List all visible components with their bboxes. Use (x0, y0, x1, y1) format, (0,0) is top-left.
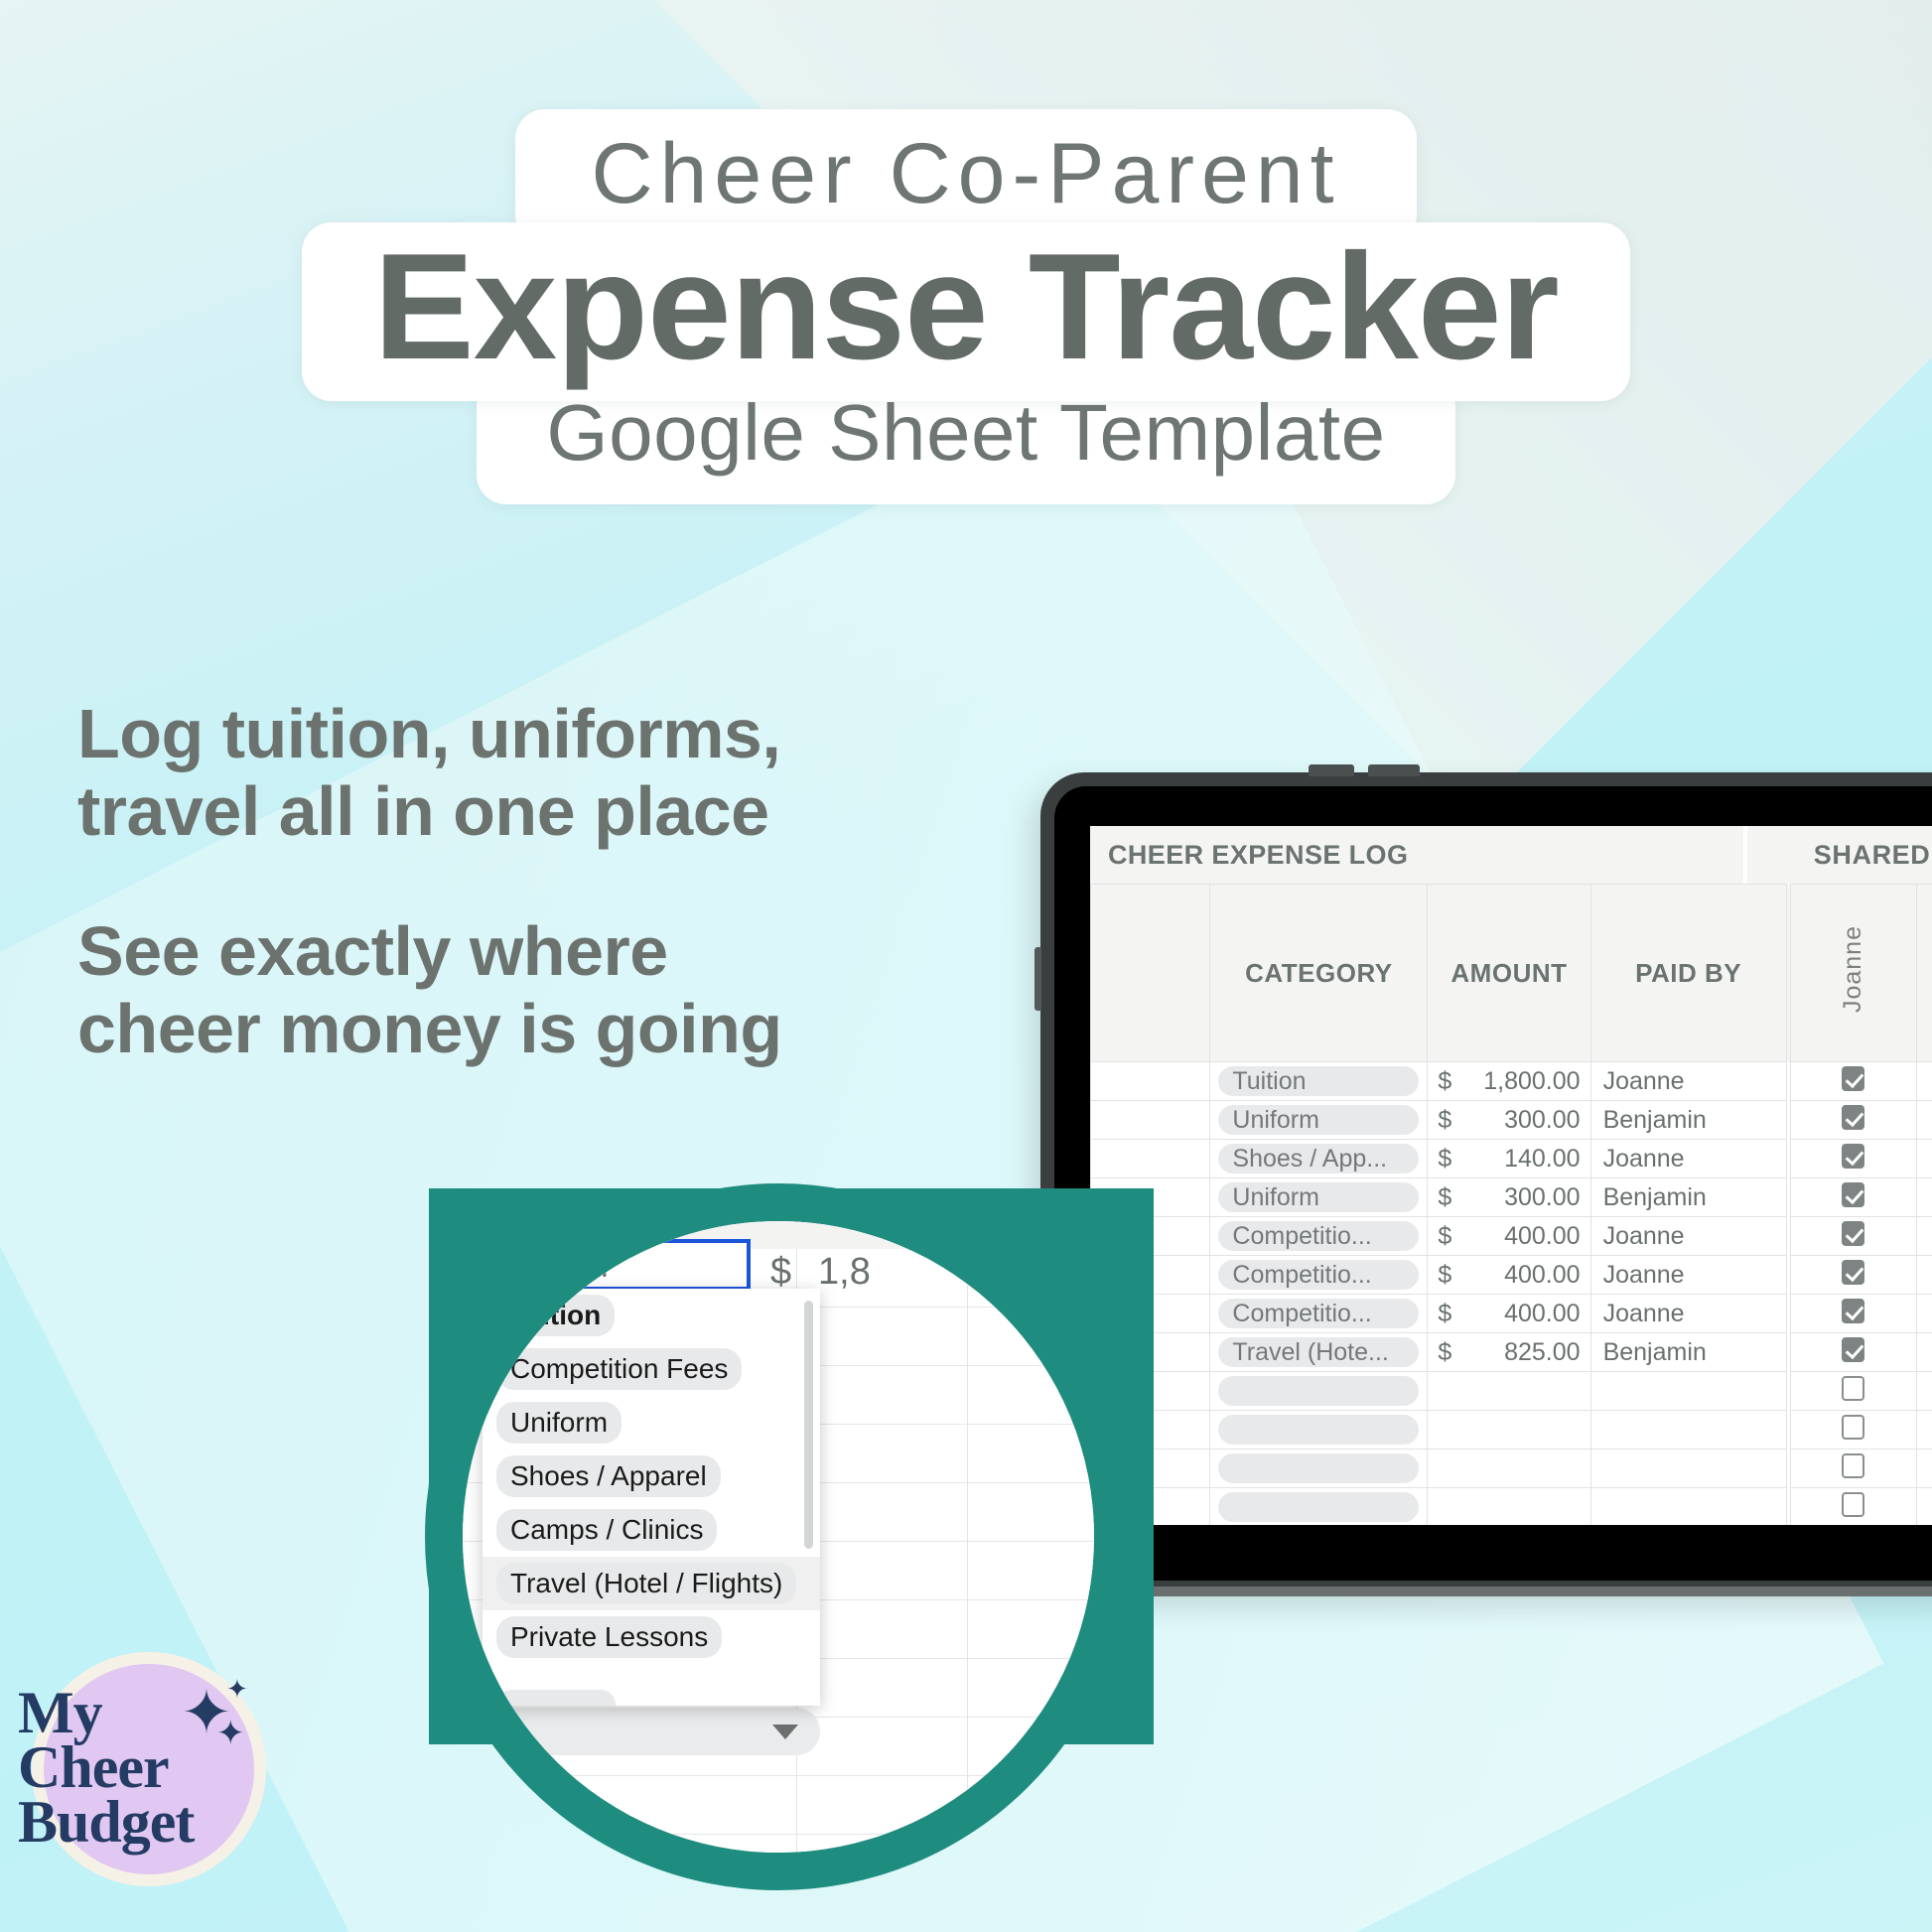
cell-category[interactable]: Uniform (1210, 1178, 1428, 1217)
marketing-copy: Log tuition, uniforms, travel all in one… (77, 695, 1070, 1068)
tablet-bezel: CHEER EXPENSE LOG SHARED BY CATEGOR (1054, 786, 1932, 1581)
marketing-line-2a: See exactly where (77, 912, 1070, 990)
paid-by-value: Joanne (1591, 1261, 1786, 1290)
category-pill[interactable]: Competitio... (1218, 1299, 1419, 1328)
cell-amount[interactable]: $400.00 (1428, 1256, 1590, 1295)
checkbox-checked-icon[interactable] (1842, 1182, 1864, 1207)
cell-amount[interactable]: $300.00 (1428, 1178, 1590, 1217)
cell-category[interactable] (1210, 1411, 1428, 1449)
dropdown-option-label: Private Lessons (496, 1616, 722, 1658)
marketing-line-2b: cheer money is going (77, 990, 1070, 1067)
listing-image-canvas: Cheer Co-Parent Expense Tracker Google S… (0, 0, 1932, 1932)
cell-shared-joanne[interactable] (1790, 1449, 1916, 1488)
tablet-device-mockup: CHEER EXPENSE LOG SHARED BY CATEGOR (1040, 772, 1932, 1596)
paid-by-value: Benjamin (1591, 1106, 1786, 1135)
cell-category[interactable] (1210, 1372, 1428, 1411)
dropdown-option[interactable]: Competition Fees (483, 1342, 820, 1396)
cell-category[interactable]: Uniform (1210, 1101, 1428, 1140)
checkbox-unchecked-icon[interactable] (1842, 1376, 1864, 1401)
dropdown-scrollbar[interactable] (804, 1301, 813, 1549)
zoomed-currency-symbol: $ (770, 1251, 791, 1294)
cell-shared-benjamin[interactable] (1916, 1140, 1932, 1178)
paid-by-value: Joanne (1591, 1145, 1786, 1173)
cell-paid-by[interactable] (1590, 1488, 1786, 1526)
cell-shared-benjamin[interactable] (1916, 1217, 1932, 1256)
dropdown-option-label: Travel (Hotel / Flights) (496, 1563, 796, 1604)
dropdown-option-label: Shoes / Apparel (496, 1455, 721, 1497)
category-dropdown-menu[interactable]: TuitionCompetition FeesUniformShoes / Ap… (483, 1289, 820, 1706)
amount-value: 1,800.00 (1451, 1067, 1580, 1096)
table-row[interactable] (1091, 1488, 1932, 1526)
currency-symbol: $ (1438, 1300, 1451, 1328)
currency-symbol: $ (1438, 1183, 1451, 1212)
page-title: Expense Tracker (373, 228, 1558, 385)
magnifier-viewport: 0.0.000.000.000.005.00 $ 1,8 Tuition Tui… (463, 1221, 1094, 1853)
dropdown-option[interactable]: Travel (Hotel / Flights) (483, 1557, 820, 1610)
zoomed-amount-text: 0.00 (989, 1475, 1094, 1517)
category-cell-input[interactable]: Tuition (484, 1239, 751, 1291)
cell-amount[interactable]: $1,800.00 (1428, 1062, 1590, 1101)
category-pill[interactable]: Competitio... (1218, 1221, 1419, 1251)
logo-line-2: Cheer (18, 1740, 282, 1795)
shared-by-group-label: SHARED BY (1747, 826, 1932, 884)
logo-line-1: My (18, 1686, 282, 1740)
cell-category[interactable]: Tuition (1210, 1062, 1428, 1101)
cell-shared-benjamin[interactable] (1916, 1178, 1932, 1217)
table-row[interactable]: Uniform$300.00Benjamin (1091, 1178, 1932, 1217)
chevron-down-icon (772, 1725, 798, 1739)
marketing-line-1a: Log tuition, uniforms, (77, 695, 1070, 772)
cell-paid-by[interactable]: Joanne (1590, 1140, 1786, 1178)
cell-category[interactable] (1210, 1449, 1428, 1488)
cell-amount[interactable]: $140.00 (1428, 1140, 1590, 1178)
dropdown-option-label: Competition Fees (496, 1348, 742, 1390)
amount-value: 400.00 (1451, 1261, 1580, 1290)
column-header-shared-joanne: Joanne (1790, 885, 1916, 1062)
zoomed-grid-row (463, 1776, 1094, 1835)
expense-table: CATEGORY AMOUNT PAID BY Joanne Benjamin (1090, 884, 1932, 1525)
category-pill[interactable]: Shoes / App... (1218, 1144, 1419, 1173)
title-block: Cheer Co-Parent Expense Tracker Google S… (0, 109, 1932, 504)
zoomed-amount-value: 1,8 (818, 1251, 871, 1294)
tablet-power-button[interactable] (1035, 947, 1041, 1011)
cell-amount[interactable]: $825.00 (1428, 1333, 1590, 1372)
tablet-bottom-edge (1048, 1587, 1932, 1596)
cell-shared-joanne[interactable] (1790, 1178, 1916, 1217)
zoomed-grid-row (463, 1835, 1094, 1853)
category-pill[interactable]: Travel (Hote... (1218, 1337, 1419, 1367)
logo-line-3: Budget (18, 1795, 282, 1850)
cell-shared-joanne[interactable] (1790, 1140, 1916, 1178)
checkbox-checked-icon[interactable] (1842, 1105, 1864, 1130)
amount-value: 300.00 (1451, 1106, 1580, 1135)
zoomed-amount-text: 0.00 (989, 1533, 1094, 1575)
table-row[interactable]: Travel (Hote...$825.00Benjamin (1091, 1333, 1932, 1372)
cell-shared-joanne[interactable] (1790, 1372, 1916, 1411)
checkbox-unchecked-icon[interactable] (1842, 1492, 1864, 1517)
category-pill[interactable]: Uniform (1218, 1105, 1419, 1135)
logo-wordmark: My Cheer Budget (18, 1686, 282, 1851)
dropdown-option-label: Camps / Clinics (496, 1509, 717, 1551)
cell-date[interactable] (1091, 1062, 1210, 1101)
checkbox-unchecked-icon[interactable] (1842, 1415, 1864, 1440)
table-row[interactable] (1091, 1411, 1932, 1449)
dropdown-next-option[interactable] (496, 1690, 616, 1706)
category-pill[interactable] (1218, 1415, 1419, 1445)
checkbox-checked-icon[interactable] (1842, 1260, 1864, 1285)
cell-amount[interactable] (1428, 1372, 1590, 1411)
paid-by-value: Joanne (1591, 1222, 1786, 1251)
paid-by-value: Benjamin (1591, 1183, 1786, 1212)
cell-paid-by[interactable]: Joanne (1590, 1256, 1786, 1295)
amount-value: 400.00 (1451, 1222, 1580, 1251)
table-body: Tuition$1,800.00JoanneUniform$300.00Benj… (1091, 1062, 1932, 1526)
column-header-date (1091, 885, 1210, 1062)
table-row[interactable]: Competitio...$400.00Joanne (1091, 1256, 1932, 1295)
cell-shared-benjamin[interactable] (1916, 1256, 1932, 1295)
cell-date[interactable] (1091, 1140, 1210, 1178)
checkbox-checked-icon[interactable] (1842, 1337, 1864, 1362)
cell-date[interactable] (1091, 1101, 1210, 1140)
title-card-main: Expense Tracker (302, 222, 1629, 401)
category-pill[interactable]: Tuition (1218, 1066, 1419, 1096)
tablet-volume-up-button[interactable] (1309, 764, 1354, 776)
cell-amount[interactable] (1428, 1488, 1590, 1526)
currency-symbol: $ (1438, 1338, 1451, 1367)
currency-symbol: $ (1438, 1067, 1451, 1096)
currency-symbol: $ (1438, 1222, 1451, 1251)
dropdown-option[interactable]: Uniform (483, 1396, 820, 1449)
tablet-volume-down-button[interactable] (1368, 764, 1420, 776)
table-row[interactable] (1091, 1449, 1932, 1488)
cell-paid-by[interactable]: Joanne (1590, 1217, 1786, 1256)
cell-paid-by[interactable]: Joanne (1590, 1062, 1786, 1101)
magnifier-callout: 0.0.000.000.000.005.00 $ 1,8 Tuition Tui… (425, 1183, 1132, 1890)
cell-paid-by[interactable] (1590, 1449, 1786, 1488)
checkbox-checked-icon[interactable] (1842, 1299, 1864, 1323)
cell-paid-by[interactable] (1590, 1372, 1786, 1411)
cell-paid-by[interactable]: Joanne (1590, 1295, 1786, 1333)
cell-shared-joanne[interactable] (1790, 1333, 1916, 1372)
amount-value: 140.00 (1451, 1145, 1580, 1173)
checkbox-unchecked-icon[interactable] (1842, 1453, 1864, 1478)
cell-shared-joanne[interactable] (1790, 1101, 1916, 1140)
category-pill[interactable] (1218, 1376, 1419, 1406)
spreadsheet: CHEER EXPENSE LOG SHARED BY CATEGOR (1090, 826, 1932, 1525)
category-pill[interactable] (1218, 1453, 1419, 1483)
cell-paid-by[interactable]: Benjamin (1590, 1101, 1786, 1140)
category-select-pill[interactable] (483, 1708, 820, 1755)
category-pill[interactable]: Competitio... (1218, 1260, 1419, 1290)
cell-category[interactable]: Travel (Hote... (1210, 1333, 1428, 1372)
currency-symbol: $ (1438, 1261, 1451, 1290)
brand-logo: ✦ ✦ ✦ My Cheer Budget (32, 1652, 266, 1886)
cell-shared-benjamin[interactable] (1916, 1295, 1932, 1333)
zoomed-gridline-4 (967, 1686, 968, 1805)
cell-shared-joanne[interactable] (1790, 1411, 1916, 1449)
title-subtitle: Google Sheet Template (546, 391, 1385, 475)
dropdown-option[interactable]: Private Lessons (483, 1610, 820, 1664)
cell-shared-joanne[interactable] (1790, 1217, 1916, 1256)
zoomed-amount-text: 0.00 (989, 1418, 1094, 1459)
table-row[interactable]: Competitio...$400.00Joanne (1091, 1295, 1932, 1333)
cell-shared-benjamin[interactable] (1916, 1488, 1932, 1526)
paid-by-value: Joanne (1591, 1300, 1786, 1328)
category-pill[interactable] (1218, 1492, 1419, 1522)
spreadsheet-header-bar: CHEER EXPENSE LOG SHARED BY (1090, 826, 1932, 884)
amount-value: 400.00 (1451, 1300, 1580, 1328)
cell-shared-benjamin[interactable] (1916, 1372, 1932, 1411)
checkbox-checked-icon[interactable] (1842, 1221, 1864, 1246)
table-header-row: CATEGORY AMOUNT PAID BY Joanne Benjamin (1091, 885, 1932, 1062)
cell-shared-benjamin[interactable] (1916, 1101, 1932, 1140)
table-row[interactable]: Shoes / App...$140.00Joanne (1091, 1140, 1932, 1178)
cell-category[interactable]: Shoes / App... (1210, 1140, 1428, 1178)
cell-amount[interactable]: $400.00 (1428, 1295, 1590, 1333)
cell-amount[interactable]: $300.00 (1428, 1101, 1590, 1140)
cell-amount[interactable] (1428, 1449, 1590, 1488)
category-pill[interactable]: Uniform (1218, 1182, 1419, 1212)
cell-shared-benjamin[interactable] (1916, 1411, 1932, 1449)
table-row[interactable]: Uniform$300.00Benjamin (1091, 1101, 1932, 1140)
cell-shared-benjamin[interactable] (1916, 1449, 1932, 1488)
checkbox-checked-icon[interactable] (1842, 1144, 1864, 1169)
cell-category[interactable] (1210, 1488, 1428, 1526)
column-header-paid-by: PAID BY (1590, 885, 1786, 1062)
cell-shared-joanne[interactable] (1790, 1488, 1916, 1526)
column-header-shared-benjamin: Benjamin (1916, 885, 1932, 1062)
cell-paid-by[interactable] (1590, 1411, 1786, 1449)
amount-value: 825.00 (1451, 1338, 1580, 1367)
dropdown-option[interactable]: Shoes / Apparel (483, 1449, 820, 1503)
cell-category[interactable]: Competitio... (1210, 1295, 1428, 1333)
amount-value: 300.00 (1451, 1183, 1580, 1212)
cell-shared-joanne[interactable] (1790, 1062, 1916, 1101)
table-row[interactable]: Tuition$1,800.00Joanne (1091, 1062, 1932, 1101)
shared-joanne-label: Joanne (1839, 925, 1867, 1013)
column-header-amount: AMOUNT (1428, 885, 1590, 1062)
checkbox-checked-icon[interactable] (1842, 1066, 1864, 1091)
tablet-screen: CHEER EXPENSE LOG SHARED BY CATEGOR (1090, 826, 1932, 1525)
dropdown-option[interactable]: Camps / Clinics (483, 1503, 820, 1557)
spreadsheet-title: CHEER EXPENSE LOG (1090, 826, 1743, 884)
paid-by-value: Benjamin (1591, 1338, 1786, 1367)
cell-category[interactable]: Competitio... (1210, 1217, 1428, 1256)
paid-by-value: Joanne (1591, 1067, 1786, 1096)
cell-shared-benjamin[interactable] (1916, 1333, 1932, 1372)
cell-paid-by[interactable]: Benjamin (1590, 1178, 1786, 1217)
cell-category[interactable]: Competitio... (1210, 1256, 1428, 1295)
dropdown-option-label: Uniform (496, 1402, 621, 1444)
zoomed-amount-text: 0. (989, 1360, 1094, 1402)
cell-amount[interactable] (1428, 1411, 1590, 1449)
cell-paid-by[interactable]: Benjamin (1590, 1333, 1786, 1372)
zoomed-amount-text: 0.00 (989, 1590, 1094, 1632)
cell-shared-joanne[interactable] (1790, 1295, 1916, 1333)
title-eyebrow: Cheer Co-Parent (591, 131, 1340, 218)
cell-shared-benjamin[interactable] (1916, 1062, 1932, 1101)
currency-symbol: $ (1438, 1145, 1451, 1173)
column-header-category: CATEGORY (1210, 885, 1428, 1062)
zoomed-spreadsheet: 0.0.000.000.000.005.00 $ 1,8 Tuition Tui… (463, 1221, 1094, 1853)
marketing-line-1b: travel all in one place (77, 772, 1070, 850)
dropdown-option[interactable]: Tuition (483, 1289, 820, 1342)
cell-amount[interactable]: $400.00 (1428, 1217, 1590, 1256)
table-row[interactable]: Competitio...$400.00Joanne (1091, 1217, 1932, 1256)
zoomed-amount-text: 5.00 (989, 1648, 1094, 1690)
currency-symbol: $ (1438, 1106, 1451, 1135)
table-row[interactable] (1091, 1372, 1932, 1411)
cell-shared-joanne[interactable] (1790, 1256, 1916, 1295)
dropdown-option-label: Tuition (496, 1295, 615, 1336)
